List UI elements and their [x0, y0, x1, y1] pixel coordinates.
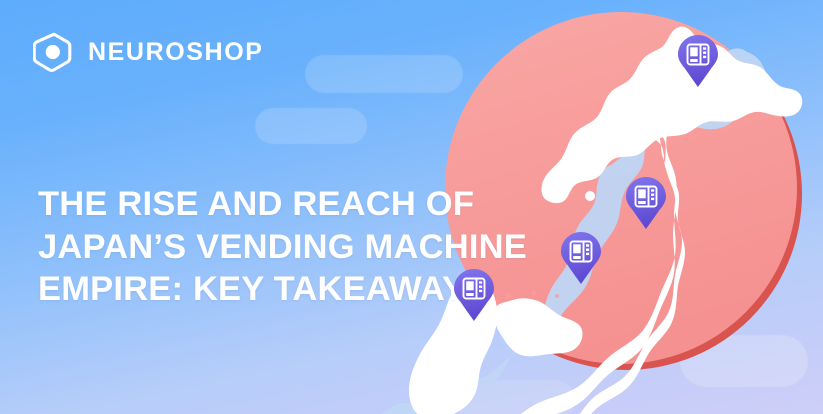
map-pin-tohoku[interactable] [624, 175, 668, 229]
headline-line-2: JAPAN’S VENDING MACHINE [38, 226, 558, 268]
map-pin-hokkaido[interactable] [676, 33, 720, 87]
map-pin-kyushu[interactable] [452, 267, 496, 321]
brand-name: NEUROSHOP [88, 40, 264, 65]
small-island [475, 324, 481, 330]
headline-line-1: THE RISE AND REACH OF [38, 183, 558, 225]
small-island [436, 339, 444, 347]
hexagon-circle-logo-icon [33, 31, 75, 73]
brand-logo[interactable]: NEUROSHOP [33, 31, 264, 73]
map-pin-kansai[interactable] [559, 230, 603, 284]
sado-island [585, 191, 595, 201]
article-hero-banner: NEUROSHOP THE RISE AND REACH OF JAPAN’S … [0, 0, 823, 414]
